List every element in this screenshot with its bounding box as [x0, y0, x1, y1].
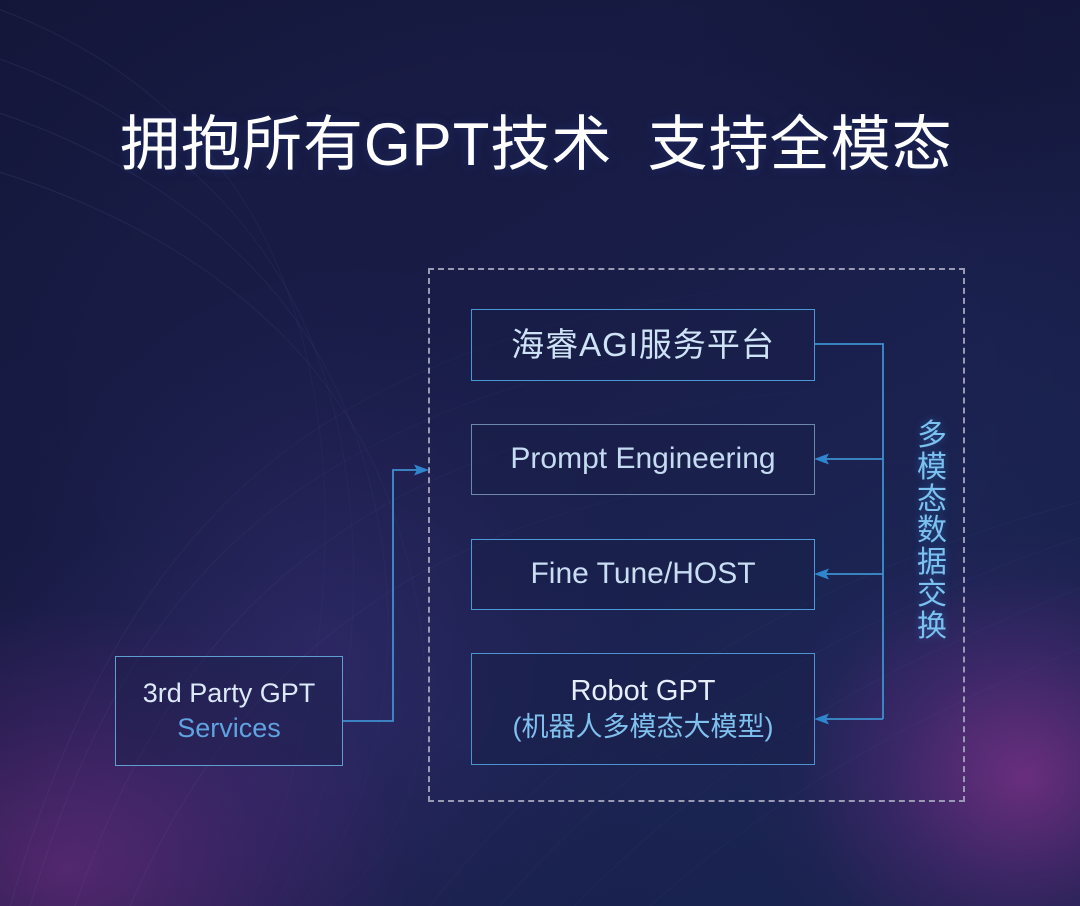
node-fine-tune-host-label: Fine Tune/HOST: [530, 556, 755, 593]
node-robot-gpt-label: Robot GPT: [570, 674, 715, 709]
node-robot-gpt[interactable]: Robot GPT (机器人多模态大模型): [471, 653, 815, 765]
node-platform-label: 海睿AGI服务平台: [511, 325, 775, 365]
node-fine-tune-host[interactable]: Fine Tune/HOST: [471, 539, 815, 610]
slide-canvas: 拥抱所有GPT技术 支持全模态 海睿AGI服务平台 Prompt Enginee…: [0, 0, 1080, 906]
node-prompt-engineering-label: Prompt Engineering: [510, 441, 775, 478]
side-label-multimodal-exchange: 多模态数据交换: [912, 420, 952, 643]
node-third-party-gpt-sublabel: Services: [177, 712, 281, 745]
connector-thirdparty-boundary: [343, 470, 421, 721]
page-title: 拥抱所有GPT技术 支持全模态: [120, 110, 953, 181]
node-platform[interactable]: 海睿AGI服务平台: [471, 309, 815, 381]
node-third-party-gpt[interactable]: 3rd Party GPT Services: [115, 656, 343, 766]
node-third-party-gpt-label: 3rd Party GPT: [143, 677, 316, 710]
node-prompt-engineering[interactable]: Prompt Engineering: [471, 424, 815, 495]
arrowhead-boundary: [414, 465, 429, 476]
node-robot-gpt-sublabel: (机器人多模态大模型): [513, 711, 774, 744]
